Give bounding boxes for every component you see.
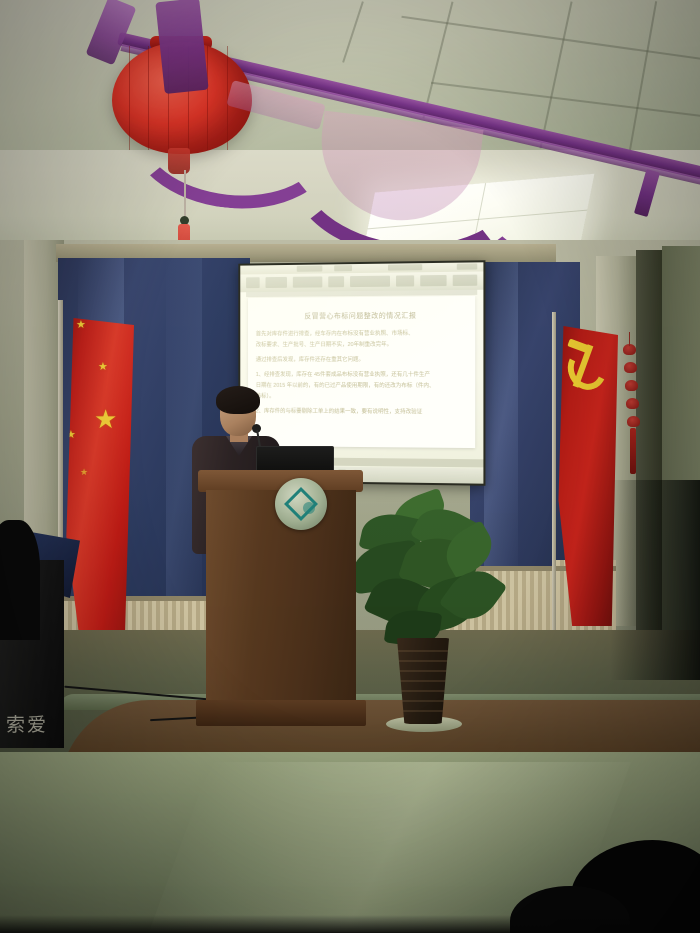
ribbon-over-lantern [155,0,208,94]
flag-star-large: ★ [94,406,117,432]
photo-scene: 反冒营心布标问题整改的情况汇报 首先对库存件进行排查，经车存内在布标没有营业执照… [0,0,700,933]
flag-star-small: ★ [76,320,86,331]
flag-star-small: ★ [80,468,88,477]
chinese-knot-hanger [629,332,630,346]
podium-base [196,700,366,726]
chinese-knot-tail [630,428,636,474]
chinese-knot-bead [625,380,638,391]
speaker-brand-label: 索爱 [6,710,64,736]
podium-body [206,490,356,705]
foreground-silhouette-left [0,520,40,640]
foreground-bottom-shadow [0,915,700,933]
foreground-shadow-right [610,480,700,680]
chinese-knot-bead [627,416,640,427]
emblem-accent [303,502,315,514]
chinese-knot-bead [624,362,637,373]
lantern-tassel-top [168,148,190,174]
presenter-hair [216,386,260,414]
flag-pole-right [552,312,556,642]
podium-emblem [275,478,327,530]
lantern-cord [184,170,186,218]
flag-star-small: ★ [98,362,108,373]
plant-foliage [352,496,498,646]
chinese-knot-bead [626,398,639,409]
